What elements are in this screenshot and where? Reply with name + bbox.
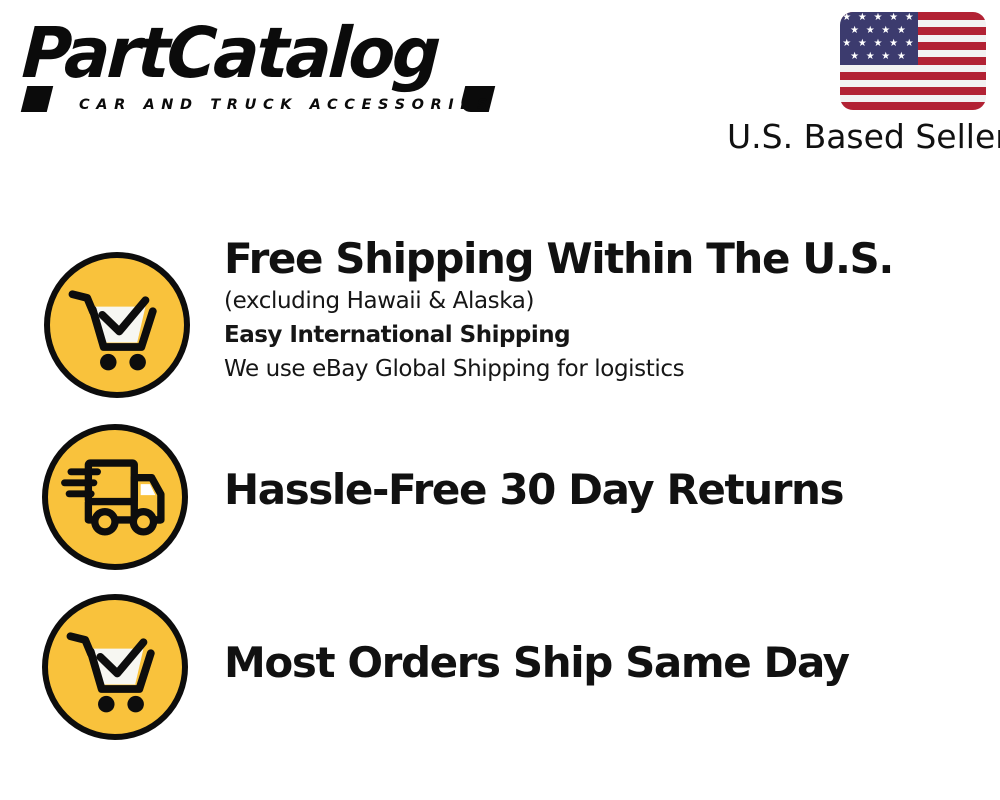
flag-star: ★ [905,13,914,23]
flag-star: ★ [889,13,898,23]
flag-star: ★ [850,26,859,36]
flag-star: ★ [866,52,875,62]
partcatalog-logo[interactable]: PartCatalog CAR AND TRUCK ACCESSORIES [24,24,494,116]
flag-star: ★ [874,13,883,23]
shopping-cart-check-icon [42,594,188,740]
feature-text-block: Most Orders Ship Same Day [224,638,984,688]
logo-tagline: CAR AND TRUCK ACCESSORIES [79,98,494,113]
flag-stripe [840,72,986,80]
flag-star: ★ [881,52,890,62]
page-header: PartCatalog CAR AND TRUCK ACCESSORIES ★★… [0,0,1000,175]
feature-title: Free Shipping Within The U.S. [224,234,984,284]
shopping-cart-check-icon [44,252,190,398]
flag-star: ★ [905,39,914,49]
delivery-truck-glyph [48,430,182,564]
flag-star: ★ [897,52,906,62]
flag-stripe [840,102,986,110]
flag-star: ★ [850,52,859,62]
flag-star: ★ [858,13,867,23]
flag-star: ★ [858,39,867,49]
delivery-truck-icon [42,424,188,570]
flag-star: ★ [866,26,875,36]
shopping-cart-check-glyph [48,600,182,734]
flag-star: ★ [842,13,851,23]
feature-text-block: Free Shipping Within The U.S. (excluding… [224,234,984,386]
shopping-cart-check-glyph [50,258,184,392]
flag-star: ★ [897,26,906,36]
flag-star: ★ [874,39,883,49]
feature-title: Hassle-Free 30 Day Returns [224,465,984,515]
us-flag-graphic: ★★★★★★★★★★★★★★★★★★ [840,12,986,110]
flag-stripe [840,87,986,95]
feature-text-block: Hassle-Free 30 Day Returns [224,465,984,515]
flag-star: ★ [842,39,851,49]
feature-subline-international: Easy International Shipping [224,318,984,352]
flag-star: ★ [889,39,898,49]
logo-wordmark: PartCatalog [20,18,439,88]
feature-title: Most Orders Ship Same Day [224,638,984,688]
us-flag-icon: ★★★★★★★★★★★★★★★★★★ [840,12,986,110]
flag-canton: ★★★★★★★★★★★★★★★★★★ [840,12,918,65]
feature-subline-exclusions: (excluding Hawaii & Alaska) [224,284,984,318]
feature-subline-logistics: We use eBay Global Shipping for logistic… [224,352,984,386]
us-based-seller-label: U.S. Based Seller [727,118,987,156]
flag-star: ★ [881,26,890,36]
